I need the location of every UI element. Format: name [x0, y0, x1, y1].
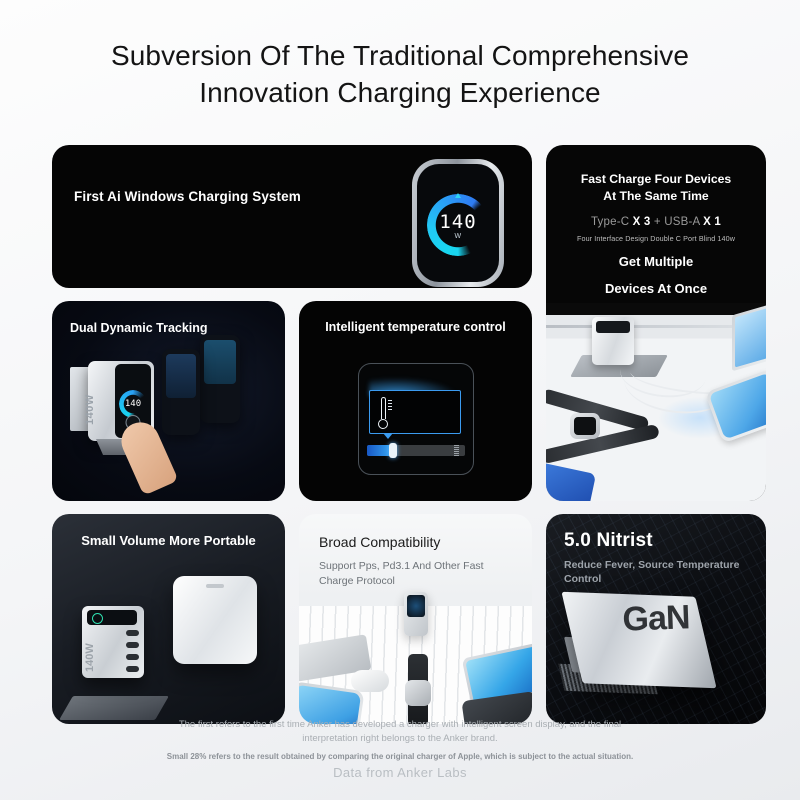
charger-device-illustration: 140 W [412, 159, 504, 287]
footer-data-source: Data from Anker Labs [0, 765, 800, 780]
desk-scene-photo [546, 303, 766, 501]
dual-tracking-heading: Dual Dynamic Tracking [70, 321, 208, 335]
footer-disclaimer-2: Small 28% refers to the result obtained … [0, 752, 800, 761]
four-cta-line-2: Devices At Once [558, 280, 754, 298]
charger-screen: 140 W [417, 164, 499, 282]
temperature-slider-track[interactable] [367, 445, 465, 456]
four-heading-line-2: At The Same Time [558, 188, 754, 205]
thermometer-stem [381, 397, 386, 419]
gauge-value: 140 [427, 211, 489, 233]
temperature-panel [369, 390, 461, 434]
dual-charger-watt-label: 140W [84, 394, 96, 425]
port-usb-c-2 [126, 642, 139, 648]
nitrist-heading: 5.0 Nitrist [564, 530, 653, 552]
thermometer-ticks [388, 400, 392, 410]
card-dual-dynamic-tracking[interactable]: Dual Dynamic Tracking 140W 140 [52, 301, 285, 501]
port-usb-a-1 [126, 666, 139, 672]
card-broad-compatibility[interactable]: Broad Compatibility Support Pps, Pd3.1 A… [299, 514, 532, 724]
ports-middle: + USB-A [651, 216, 704, 228]
compat-charger [404, 592, 428, 636]
gauge-unit: W [427, 233, 489, 240]
page-title-line-2: Innovation Charging Experience [60, 75, 740, 112]
tracking-panel-far [200, 335, 240, 423]
card-small-volume-portable[interactable]: Small Volume More Portable 140W [52, 514, 285, 724]
footer-disclaimers: The first refers to the first time Anker… [0, 718, 800, 780]
thermometer-icon [378, 397, 389, 429]
tracking-panel-near [162, 349, 200, 435]
charger-port-group [126, 630, 139, 672]
temperature-heading: Intelligent temperature control [299, 320, 532, 334]
four-heading-line-1: Fast Charge Four Devices [558, 171, 754, 188]
card-nitrist-gan[interactable]: GaN 5.0 Nitrist Reduce Fever, Source Tem… [546, 514, 766, 724]
page-title-line-1: Subversion Of The Traditional Comprehens… [60, 38, 740, 75]
nitrist-subtitle: Reduce Fever, Source Temperature Control [564, 558, 752, 586]
footer-disclaimer-1: The first refers to the first time Anker… [0, 718, 800, 747]
dual-gauge-value: 140 [119, 390, 147, 418]
four-cta-line-1: Get Multiple [558, 253, 754, 271]
product-charger-screen [87, 610, 137, 625]
watch-strap-lower [546, 424, 660, 465]
compat-mouse [351, 670, 389, 692]
temperature-diagram-frame [358, 363, 474, 475]
smartwatch [570, 413, 600, 439]
small-volume-heading: Small Volume More Portable [52, 533, 285, 548]
dual-power-gauge: 140 [119, 390, 147, 418]
tablet-device [546, 461, 596, 501]
thermometer-bulb [378, 419, 388, 429]
four-devices-text-block: Fast Charge Four Devices At The Same Tim… [546, 145, 766, 298]
ports-prefix: Type-C [591, 216, 633, 228]
gauge-marker-icon [455, 193, 461, 198]
four-ports-line: Type-C X 3 + USB-A X 1 [558, 216, 754, 228]
product-charger-small: 140W [82, 606, 144, 678]
card-ai-heading: First Ai Windows Charging System [74, 189, 301, 204]
port-usb-c-3 [126, 654, 139, 660]
compat-watch-face [405, 680, 431, 706]
compat-watch [405, 654, 431, 724]
page-title: Subversion Of The Traditional Comprehens… [0, 0, 800, 112]
ports-count-usba: X 1 [703, 216, 721, 228]
small-charger-watt-label: 140W [84, 643, 96, 672]
four-detail-line: Four Interface Design Double C Port Blin… [558, 234, 754, 243]
card-intelligent-temperature-control[interactable]: Intelligent temperature control [299, 301, 532, 501]
temperature-arrow-icon [383, 433, 393, 439]
gan-chip-label: GaN [622, 598, 690, 639]
broad-compat-heading: Broad Compatibility [319, 534, 440, 550]
reference-charger-large [173, 576, 257, 664]
temperature-slider-knob[interactable] [389, 443, 397, 458]
feature-card-grid: First Ai Windows Charging System 140 W F… [52, 145, 752, 715]
slider-end-ticks [454, 445, 459, 456]
card-ai-windows-charging[interactable]: First Ai Windows Charging System 140 W [52, 145, 532, 288]
ports-count-typec: X 3 [633, 216, 651, 228]
power-gauge: 140 W [427, 194, 489, 256]
broad-compat-subtitle: Support Pps, Pd3.1 And Other Fast Charge… [319, 559, 518, 589]
comparison-plate [59, 696, 169, 720]
laptop-device [732, 303, 766, 372]
card-fast-charge-four-devices[interactable]: Fast Charge Four Devices At The Same Tim… [546, 145, 766, 501]
port-usb-c-1 [126, 630, 139, 636]
